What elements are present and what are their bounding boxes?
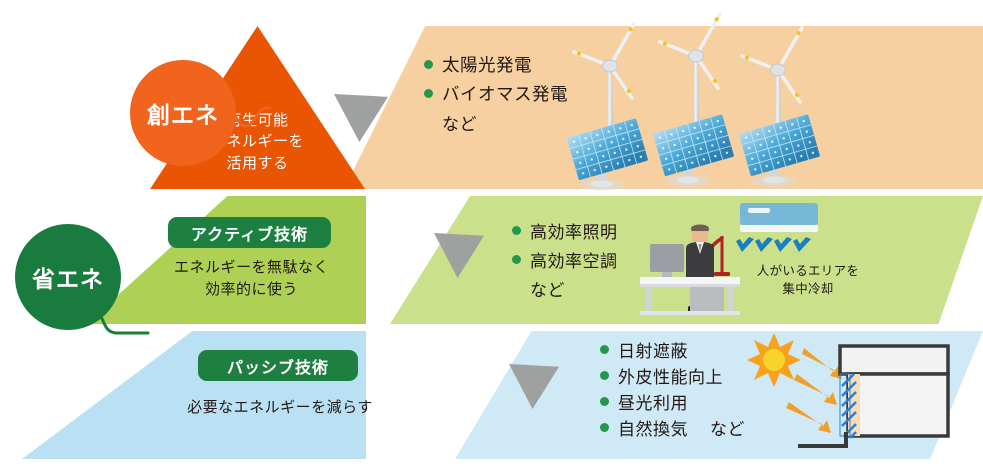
list-item: 日射遮蔽 (600, 337, 745, 362)
passive-caption-line-1: 必要なエネルギーを減らす (140, 397, 420, 419)
list-item: 外皮性能向上 (600, 363, 745, 388)
ac-caption-line-2: 集中冷却 (728, 280, 888, 298)
air-conditioner-caption: 人がいるエリアを 集中冷却 (728, 262, 888, 298)
list-item-label: 高効率空調 (530, 247, 618, 272)
air-conditioner-art (732, 203, 848, 261)
list-item-label: バイオマス発電 (442, 81, 568, 106)
bullet-dot-icon (600, 371, 609, 380)
list-item-label: 太陽光発電 (442, 52, 532, 77)
active-caption-line-1: エネルギーを無駄なく (134, 257, 369, 279)
bullet-dot-icon (600, 397, 609, 406)
badge-sou-ene-label: 創エネ (147, 96, 219, 130)
active-item-list: 高効率照明 高効率空調 など (512, 218, 618, 301)
renewable-item-list: 太陽光発電 バイオマス発電 など (424, 52, 568, 135)
list-item: バイオマス発電 (424, 81, 568, 106)
list-item-label: 昼光利用 (618, 389, 688, 414)
list-item: 高効率照明 (512, 218, 618, 243)
bullet-dot-icon (424, 60, 433, 69)
list-item: 高効率空調 (512, 247, 618, 272)
bullet-dot-icon (512, 226, 521, 235)
bullet-dot-icon (424, 89, 433, 98)
passive-artwork (742, 332, 978, 456)
diagram-canvas: 再生可能 エネルギーを 活用する 創エネ 省エネ アクティブ技術 エネルギーを無… (0, 0, 983, 464)
badge-shou-ene[interactable]: 省エネ (15, 224, 121, 330)
list-item: 昼光利用 (600, 389, 745, 414)
pill-passive-technology[interactable]: パッシブ技術 (198, 350, 358, 381)
list-item-label: 外皮性能向上 (618, 363, 723, 388)
ac-caption-line-1: 人がいるエリアを (728, 262, 888, 280)
passive-item-list: 日射遮蔽 外皮性能向上 昼光利用 自然換気 など (600, 337, 745, 441)
list-item-label: 日射遮蔽 (618, 337, 688, 362)
active-trailing-label: など (512, 276, 618, 301)
list-item: 太陽光発電 (424, 52, 568, 77)
badge-shou-ene-label: 省エネ (32, 260, 104, 294)
badge-sou-ene[interactable]: 創エネ (130, 60, 236, 166)
list-item: 自然換気 など (600, 415, 745, 440)
active-caption-line-2: 効率的に使う (134, 279, 369, 301)
bullet-dot-icon (600, 345, 609, 354)
bullet-dot-icon (512, 255, 521, 264)
list-item-label: 自然換気 (618, 415, 688, 440)
passive-trailing-label: など (710, 415, 745, 440)
list-item-label: 高効率照明 (530, 218, 618, 243)
pill-active-technology[interactable]: アクティブ技術 (168, 217, 331, 248)
renewable-artwork (548, 22, 878, 192)
bullet-dot-icon (600, 423, 609, 432)
renewable-trailing-label: など (424, 110, 568, 135)
pill-passive-label: パッシブ技術 (227, 354, 329, 378)
pill-active-label: アクティブ技術 (191, 221, 308, 245)
active-caption: エネルギーを無駄なく 効率的に使う (134, 257, 369, 301)
passive-caption: 必要なエネルギーを減らす (140, 397, 420, 419)
